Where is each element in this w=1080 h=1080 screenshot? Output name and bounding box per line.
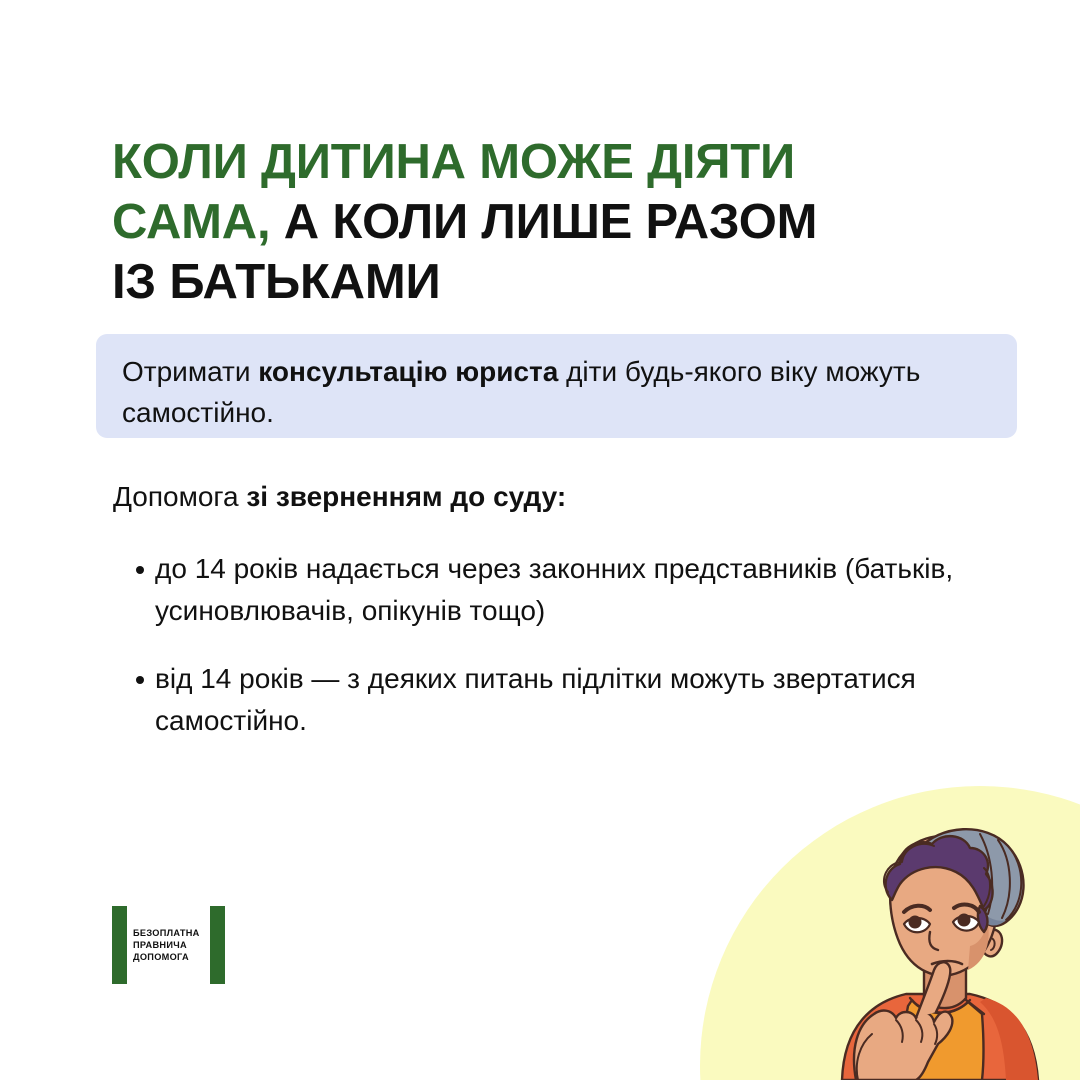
page-title: КОЛИ ДИТИНА МОЖЕ ДІЯТИ САМА, А КОЛИ ЛИШЕ… xyxy=(112,132,942,312)
callout-box: Отримати консультацію юриста діти будь-я… xyxy=(96,334,1017,438)
logo-line-1: БЕЗОПЛАТНА xyxy=(133,928,200,938)
list-item: від 14 років — з деяких питань підлітки … xyxy=(113,658,993,742)
callout-text-before: Отримати xyxy=(122,356,258,387)
logo-bezoplatna-pravnycha-dopomoha: БЕЗОПЛАТНА ПРАВНИЧА ДОПОМОГА xyxy=(112,906,225,984)
callout-text: Отримати консультацію юриста діти будь-я… xyxy=(122,351,991,433)
headline-line-2-black: А КОЛИ ЛИШЕ РАЗОМ xyxy=(270,195,817,249)
headline-line-1: КОЛИ ДИТИНА МОЖЕ ДІЯТИ xyxy=(112,135,795,189)
section-lead-emphasis: зі зверненням до суду: xyxy=(246,481,566,512)
callout-text-emphasis: консультацію юриста xyxy=(258,356,558,387)
logo-wordmark: БЕЗОПЛАТНА ПРАВНИЧА ДОПОМОГА xyxy=(133,928,200,962)
headline-line-2-green: САМА, xyxy=(112,195,270,249)
section-lead: Допомога зі зверненням до суду: xyxy=(113,478,566,516)
list-item: до 14 років надається через законних пре… xyxy=(113,548,993,632)
logo-line-3: ДОПОМОГА xyxy=(133,952,189,962)
bullet-list: до 14 років надається через законних пре… xyxy=(113,548,993,768)
thinking-boy-illustration xyxy=(820,810,1070,1080)
infographic-canvas: КОЛИ ДИТИНА МОЖЕ ДІЯТИ САМА, А КОЛИ ЛИШЕ… xyxy=(0,0,1080,1080)
headline-line-3: ІЗ БАТЬКАМИ xyxy=(112,255,441,309)
logo-line-2: ПРАВНИЧА xyxy=(133,940,187,950)
section-lead-before: Допомога xyxy=(113,481,246,512)
